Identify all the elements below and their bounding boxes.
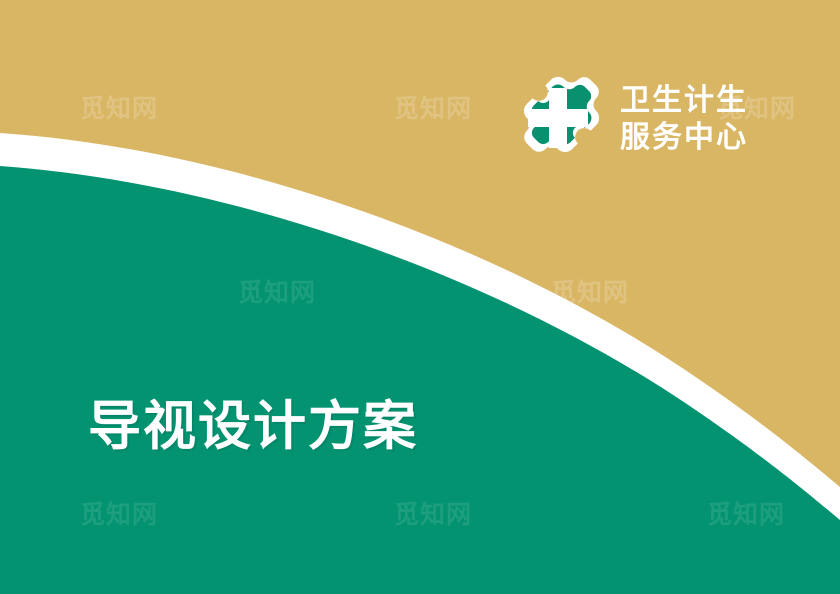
logo-line-2: 服务中心: [620, 120, 748, 155]
logo-line-1: 卫生计生: [620, 83, 748, 118]
organization-name: 卫生计生 服务中心: [620, 81, 748, 155]
organization-logo-lockup: 卫生计生 服务中心: [508, 68, 748, 168]
cover-slide: 觅知网 觅知网 觅知网 觅知网 觅知网 觅知网 觅知网 觅知网 卫生计生 服务中…: [0, 0, 840, 594]
page-title: 导视设计方案: [88, 398, 418, 455]
medical-cross-diamond-icon: [508, 68, 608, 168]
